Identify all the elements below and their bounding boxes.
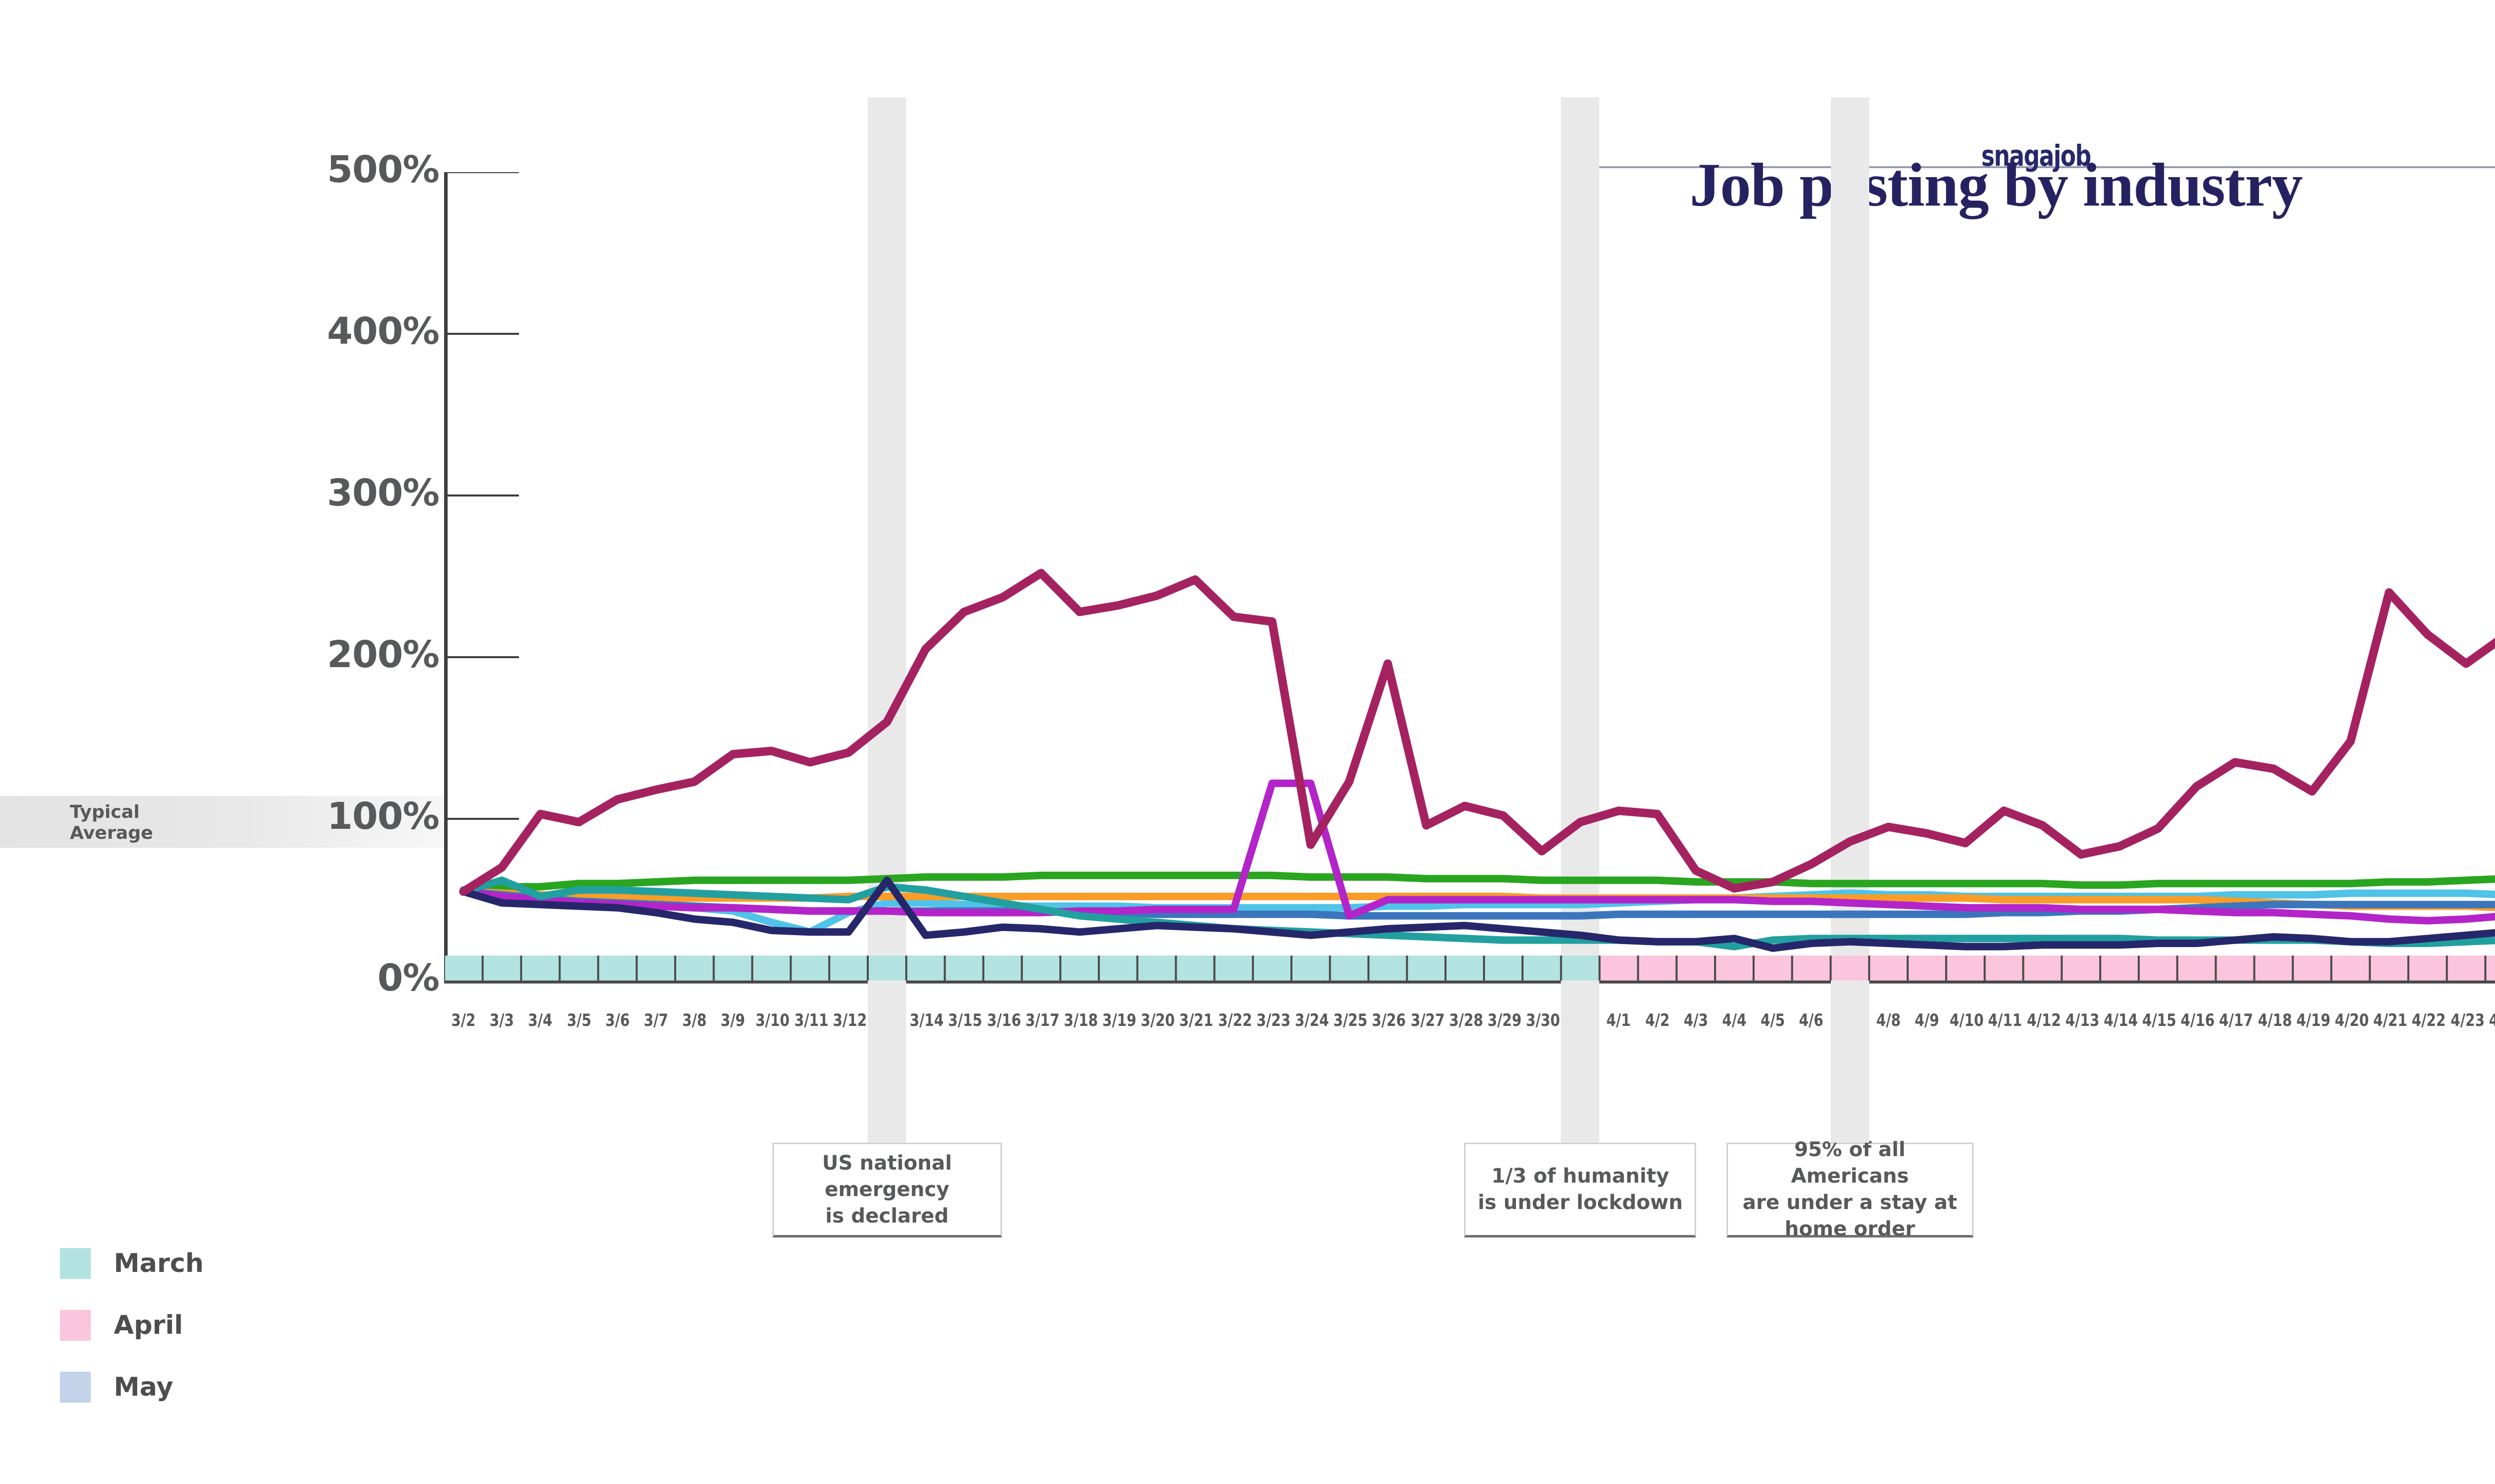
x-tick-label: 4/3 — [1680, 1010, 1712, 1030]
month-band-april — [1599, 956, 2495, 981]
x-tick-label: 3/3 — [486, 1010, 517, 1030]
x-tick-label: 3/9 — [717, 1010, 748, 1030]
x-tick-label: 3/17 — [1025, 1010, 1057, 1030]
y-tick-label: 0% — [274, 957, 439, 999]
x-tick-label: 3/30 — [1526, 1010, 1557, 1030]
x-tick-label: 3/21 — [1179, 1010, 1211, 1030]
x-tick-label: 4/20 — [2335, 1010, 2366, 1030]
x-tick-label: 3/10 — [755, 1010, 787, 1030]
month-legend-label: May — [114, 1372, 173, 1402]
month-legend-label: March — [114, 1248, 204, 1278]
x-tick-label: 4/17 — [2219, 1010, 2250, 1030]
x-tick-label: 3/23 — [1256, 1010, 1288, 1030]
annotation-callout: 1/3 of humanityis under lockdown — [1464, 1143, 1696, 1237]
x-tick-label: 3/4 — [524, 1010, 556, 1030]
y-tick-label: 200% — [274, 633, 439, 676]
x-tick-label: 3/7 — [640, 1010, 672, 1030]
annotation-line: is declared — [782, 1203, 993, 1230]
x-tick-label: 4/4 — [1719, 1010, 1750, 1030]
x-tick-label: 3/5 — [563, 1010, 594, 1030]
x-tick-label: 3/14 — [910, 1010, 941, 1030]
x-tick-label: 4/9 — [1911, 1010, 1943, 1030]
x-tick-label: 3/11 — [794, 1010, 826, 1030]
x-tick-label: 4/24 — [2489, 1010, 2495, 1030]
x-tick-label: 3/6 — [602, 1010, 633, 1030]
x-tick-label: 3/19 — [1102, 1010, 1134, 1030]
annotation-line: 1/3 of humanity — [1478, 1163, 1683, 1190]
month-legend-item-april: April — [60, 1294, 319, 1356]
annotation-line: 95% of all Americans — [1736, 1137, 1964, 1190]
x-tick-label: 3/16 — [987, 1010, 1018, 1030]
annotation-stem — [1561, 983, 1599, 1143]
x-tick-label: 3/2 — [448, 1010, 479, 1030]
month-swatch-icon — [60, 1372, 91, 1403]
x-axis-labels: 3/23/33/43/53/63/73/83/93/103/113/123/13… — [444, 1010, 2495, 1040]
month-legend-label: April — [114, 1310, 183, 1340]
series-line-grocery — [464, 869, 2495, 890]
y-tick-label: 500% — [274, 148, 439, 191]
x-tick-label: 3/12 — [833, 1010, 864, 1030]
x-tick-label: 3/8 — [679, 1010, 710, 1030]
x-tick-label: 4/22 — [2412, 1010, 2443, 1030]
x-tick-label: 4/1 — [1603, 1010, 1634, 1030]
x-tick-label: 3/29 — [1488, 1010, 1519, 1030]
x-tick-label: 4/18 — [2258, 1010, 2289, 1030]
x-tick-label: 3/25 — [1333, 1010, 1365, 1030]
y-tick-label: 400% — [274, 310, 439, 353]
x-tick-label: 4/14 — [2104, 1010, 2135, 1030]
y-tick-label: 300% — [274, 472, 439, 514]
x-tick-label: 4/16 — [2181, 1010, 2212, 1030]
x-tick-label: 4/21 — [2373, 1010, 2405, 1030]
series-line-logistics-warehouse — [464, 245, 2495, 892]
x-tick-label: 4/15 — [2142, 1010, 2174, 1030]
month-swatch-icon — [60, 1248, 91, 1279]
x-tick-label: 3/24 — [1295, 1010, 1326, 1030]
annotation-line: are under a stay at — [1736, 1190, 1964, 1216]
x-tick-label: 4/19 — [2296, 1010, 2328, 1030]
annotation-stem — [1831, 983, 1869, 1143]
x-tick-label: 4/2 — [1642, 1010, 1673, 1030]
x-tick-label: 3/28 — [1449, 1010, 1481, 1030]
annotation-stem — [868, 983, 906, 1143]
annotation-callout: US national emergencyis declared — [772, 1143, 1002, 1237]
x-tick-label: 3/15 — [948, 1010, 980, 1030]
x-tick-label: 3/20 — [1141, 1010, 1172, 1030]
x-tick-label: 4/5 — [1757, 1010, 1788, 1030]
x-tick-label: 4/10 — [1950, 1010, 1981, 1030]
x-tick-label: 4/23 — [2450, 1010, 2482, 1030]
month-swatch-icon — [60, 1310, 91, 1341]
y-tick-label: 100% — [274, 795, 439, 838]
month-legend-item-may: May — [60, 1356, 319, 1418]
month-legend-item-march: March — [60, 1233, 319, 1294]
annotation-line: is under lockdown — [1478, 1190, 1683, 1216]
annotation-line: US national emergency — [782, 1150, 993, 1203]
x-tick-label: 3/22 — [1218, 1010, 1249, 1030]
x-tick-label: 4/12 — [2026, 1010, 2058, 1030]
x-tick-label: 3/27 — [1411, 1010, 1442, 1030]
x-tick-label: 3/26 — [1372, 1010, 1403, 1030]
x-tick-label: 3/18 — [1064, 1010, 1095, 1030]
annotation-callout: 95% of all Americansare under a stay ath… — [1727, 1143, 1974, 1237]
x-tick-label: 4/6 — [1795, 1010, 1827, 1030]
month-legend: MarchAprilMay — [60, 1233, 319, 1418]
line-chart-canvas — [444, 172, 2495, 983]
x-tick-label: 4/13 — [2065, 1010, 2097, 1030]
annotation-line: home order — [1736, 1216, 1964, 1242]
x-tick-label: 4/11 — [1988, 1010, 2019, 1030]
x-tick-label: 4/8 — [1873, 1010, 1904, 1030]
